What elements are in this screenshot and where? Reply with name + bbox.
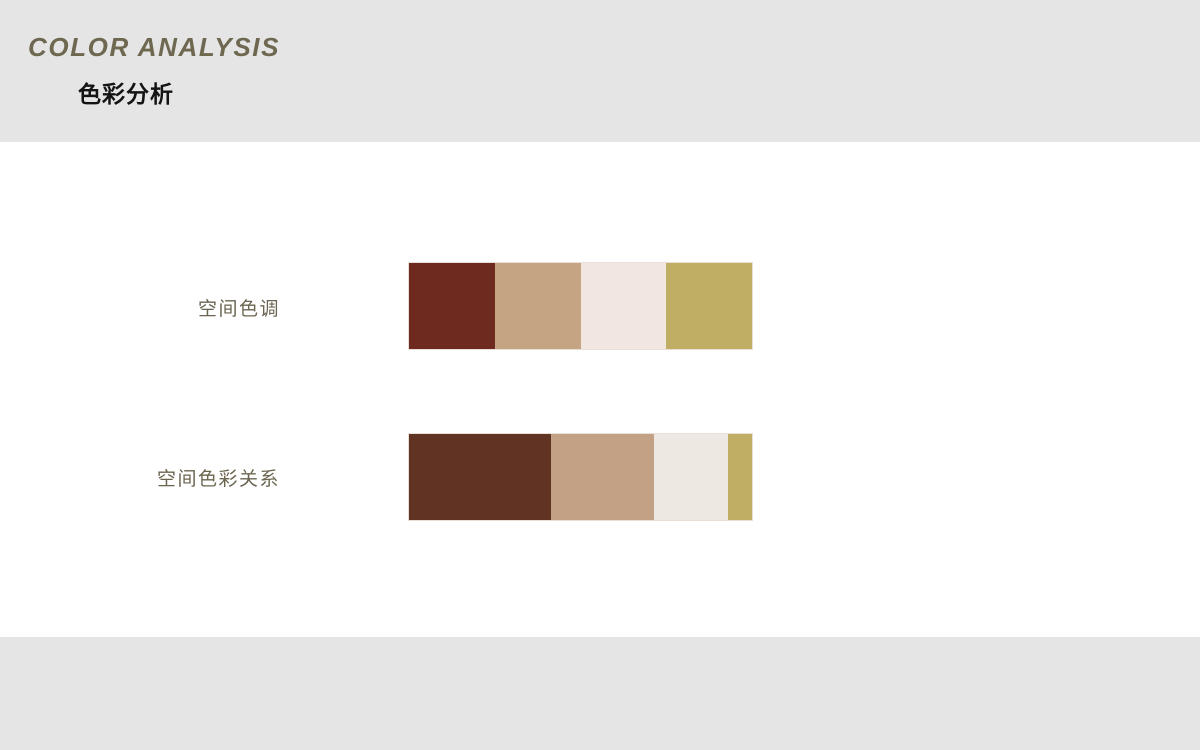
page-title-english: COLOR ANALYSIS bbox=[28, 32, 280, 63]
page-title-chinese: 色彩分析 bbox=[78, 75, 174, 109]
swatch-camel-tan bbox=[495, 263, 581, 349]
swatch-deep-cocoa-brown bbox=[409, 434, 551, 520]
slide-canvas: 空间色调 空间色彩关系 bbox=[0, 142, 1200, 637]
swatch-neutral-cream bbox=[654, 434, 728, 520]
footer-band bbox=[0, 637, 1200, 750]
palette-bar-color-relationship bbox=[408, 433, 753, 521]
swatch-warm-blush-cream bbox=[581, 263, 667, 349]
swatch-olive-gold-accent bbox=[728, 434, 752, 520]
palette-bar-spatial-tone bbox=[408, 262, 753, 350]
palette-label-color-relationship: 空间色彩关系 bbox=[20, 464, 280, 491]
swatch-deep-rust-brown bbox=[409, 263, 495, 349]
header-band: COLOR ANALYSIS 色彩分析 bbox=[0, 0, 1200, 142]
palette-label-spatial-tone: 空间色调 bbox=[20, 294, 280, 321]
swatch-olive-gold bbox=[666, 263, 752, 349]
swatch-camel-tan-proportional bbox=[551, 434, 654, 520]
